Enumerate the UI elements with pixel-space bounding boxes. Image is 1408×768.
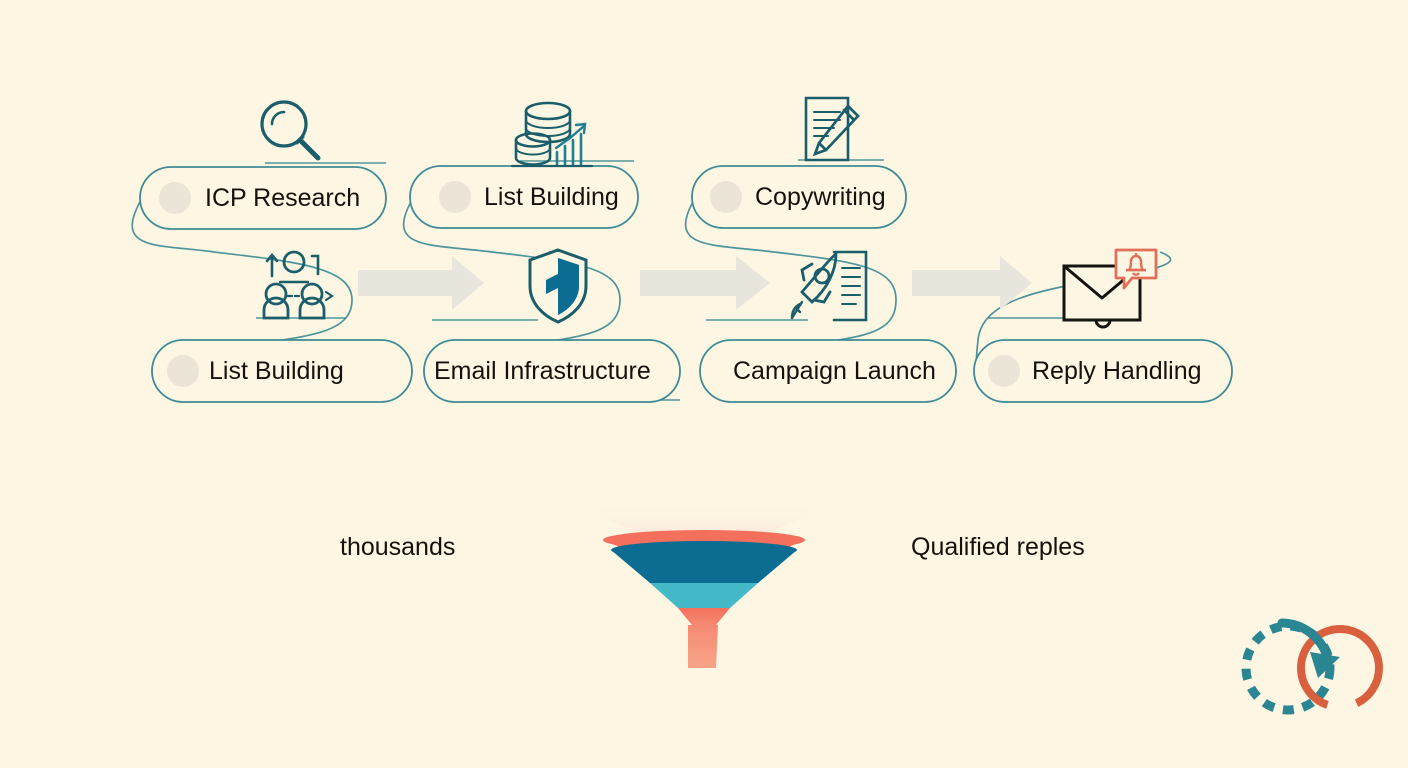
magnifier-icon	[262, 102, 318, 158]
funnel-right-label: Qualified reples	[911, 535, 1085, 560]
cycle-arrow-head	[1310, 652, 1340, 678]
flow-arrow-3	[912, 256, 1032, 310]
rocket-document-icon	[792, 252, 866, 320]
pill-label-copywriting: Copywriting	[755, 185, 886, 210]
diagram-canvas: ICP Research List Building Copywriting L…	[0, 0, 1408, 768]
shield-icon	[530, 250, 586, 322]
funnel-deep-teal-top	[611, 541, 797, 559]
funnel-spout	[688, 625, 718, 668]
bullet-reply-handling	[988, 355, 1020, 387]
flow-arrow-2	[640, 256, 770, 310]
pill-label-list-building-top: List Building	[484, 185, 619, 210]
team-people-icon	[264, 252, 332, 318]
funnel-left-label: thousands	[340, 535, 455, 560]
bullet-list-building-bottom	[167, 355, 199, 387]
document-pencil-icon	[806, 98, 858, 160]
funnel-graphic	[576, 503, 832, 668]
refresh-cycle-badge	[1246, 623, 1379, 710]
pill-label-reply-handling: Reply Handling	[1032, 359, 1202, 384]
database-chart-icon	[512, 103, 592, 166]
bullet-copywriting	[710, 181, 742, 213]
funnel-light-teal-band	[650, 583, 758, 608]
pill-label-icp-research: ICP Research	[205, 186, 360, 211]
flow-arrow-1	[358, 256, 484, 310]
bullet-icp-research	[159, 182, 191, 214]
pill-label-list-building-bottom: List Building	[209, 359, 344, 384]
pill-label-email-infrastructure: Email Infrastructure	[434, 359, 651, 384]
pill-label-campaign-launch: Campaign Launch	[733, 359, 936, 384]
flow-arrows	[358, 256, 1032, 310]
envelope-bell-icon	[1064, 250, 1156, 327]
bullet-list-building-top	[439, 181, 471, 213]
funnel-coral-band	[678, 608, 730, 625]
